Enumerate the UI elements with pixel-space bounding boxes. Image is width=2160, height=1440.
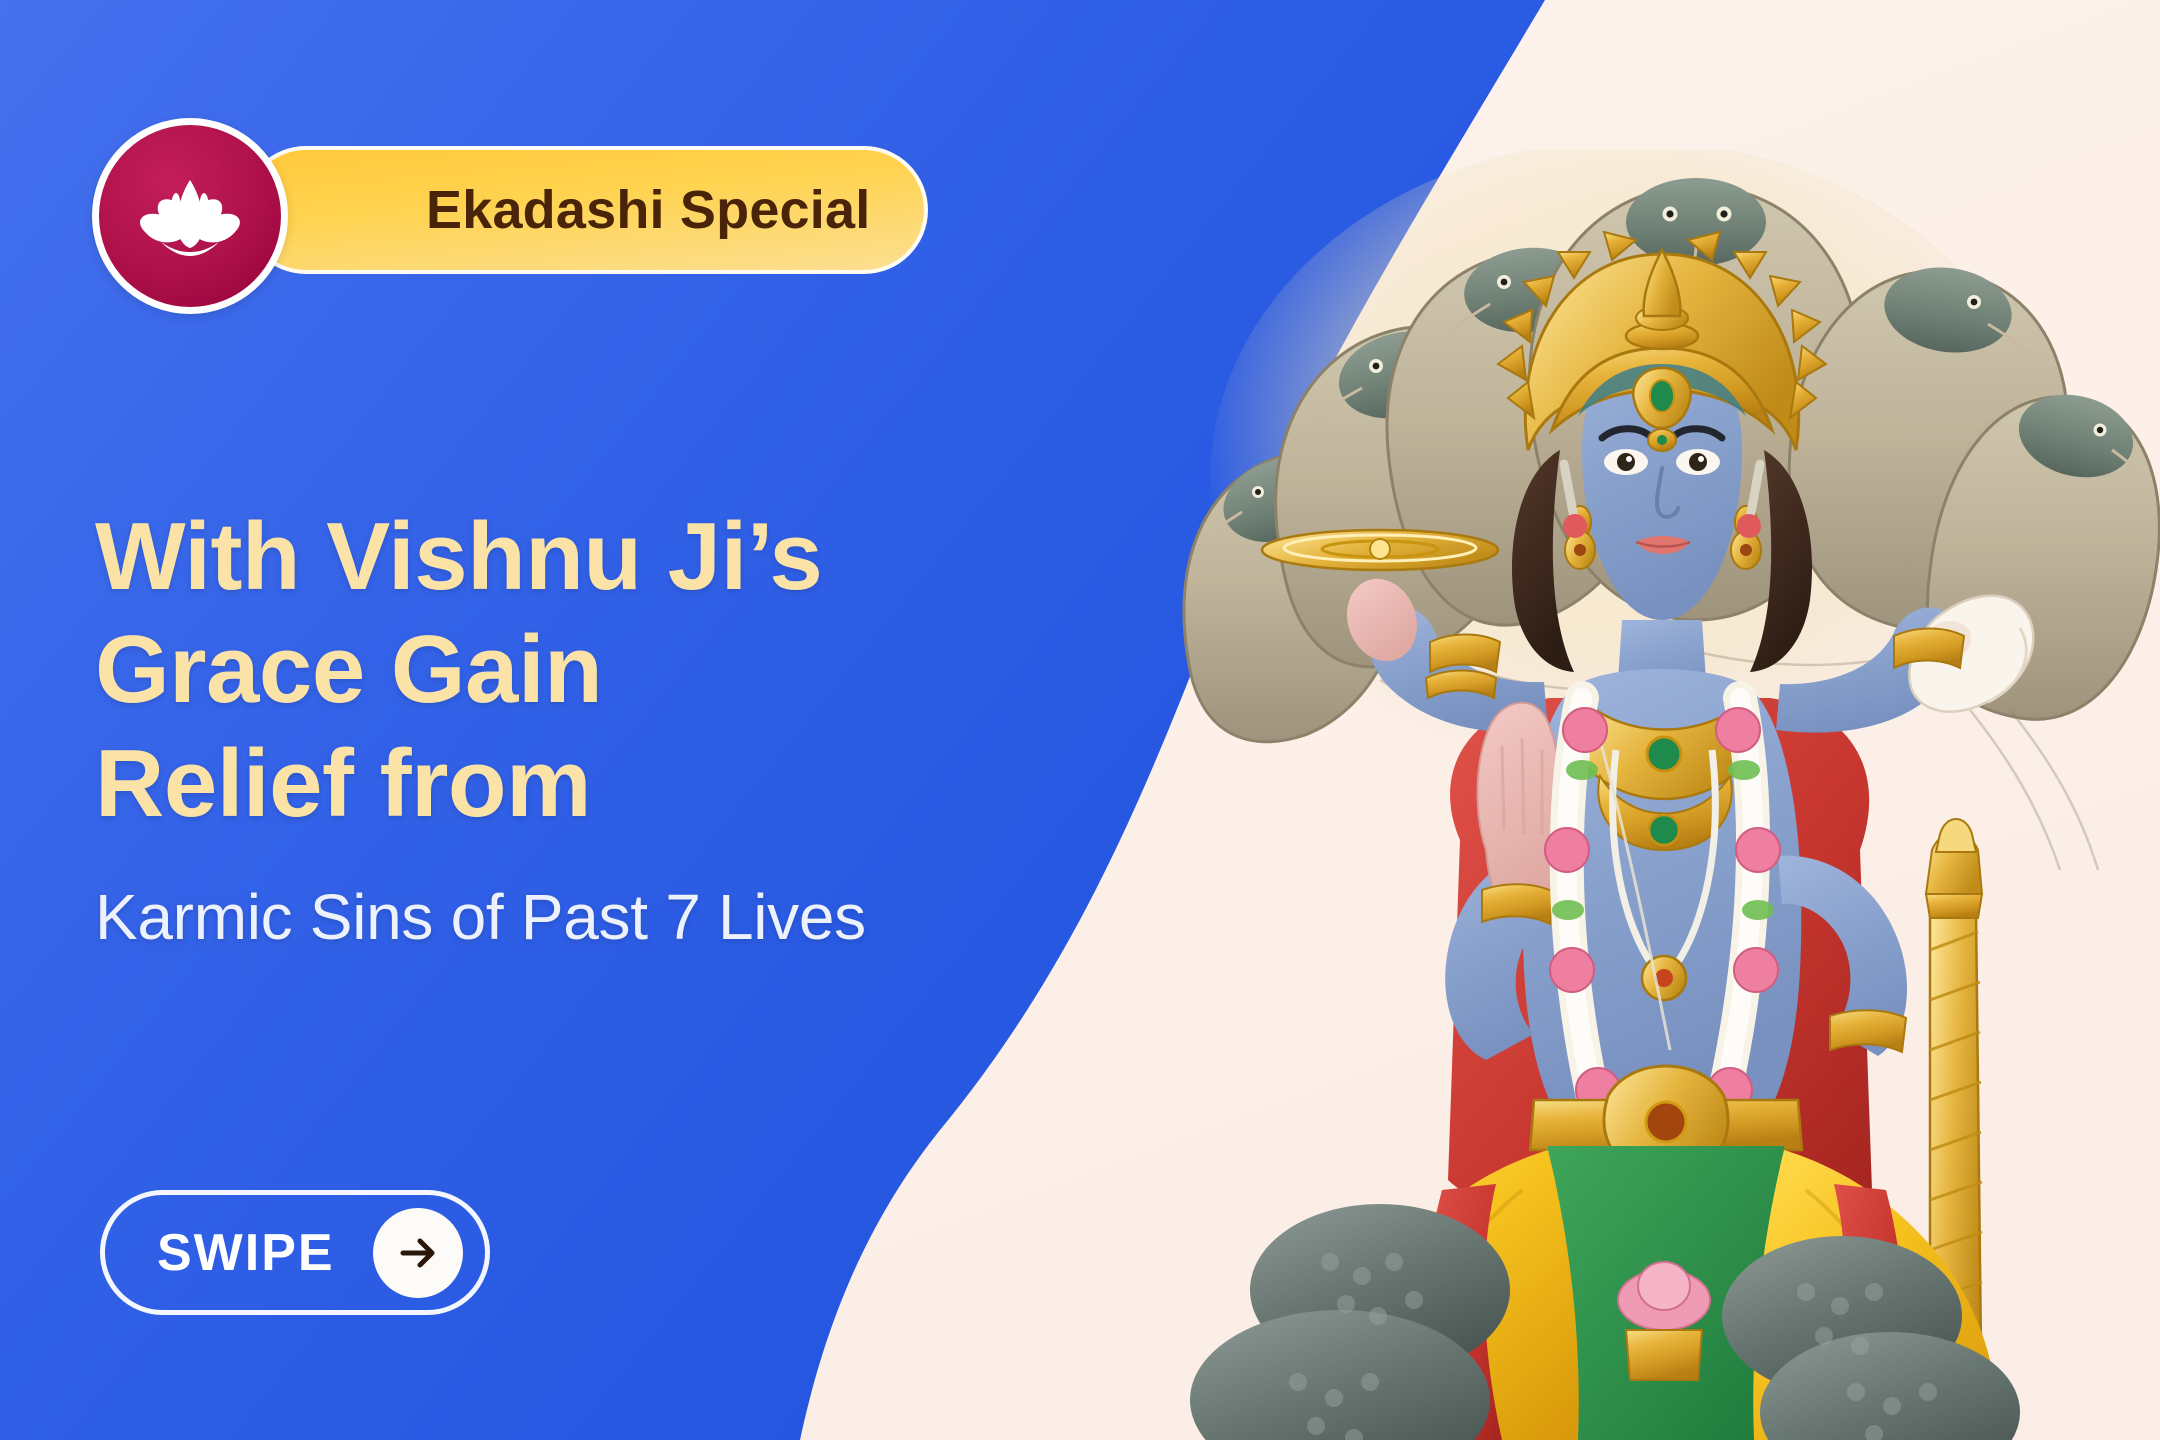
subheadline: Karmic Sins of Past 7 Lives bbox=[95, 880, 866, 954]
ekadashi-promo-banner: Ekadashi Special With Vishnu Ji’s Gr bbox=[0, 0, 2160, 1440]
abhaya-mudra-hand bbox=[1477, 703, 1562, 924]
arrow-right-icon bbox=[393, 1228, 443, 1278]
sudarshana-chakra bbox=[1262, 530, 1498, 570]
lotus-icon bbox=[129, 166, 251, 266]
swipe-button[interactable]: SWIPE bbox=[100, 1190, 490, 1315]
swipe-arrow-circle[interactable] bbox=[373, 1208, 463, 1298]
lotus-pendant bbox=[1618, 1262, 1710, 1380]
headline-block: With Vishnu Ji’s Grace Gain Relief from bbox=[95, 500, 1195, 840]
badge-icon-circle bbox=[92, 118, 288, 314]
headline-line-2: Grace Gain bbox=[95, 613, 1195, 726]
vishnu-illustration bbox=[1130, 150, 2160, 1440]
headline-line-1: With Vishnu Ji’s bbox=[95, 500, 1195, 613]
badge-pill: Ekadashi Special bbox=[242, 146, 928, 274]
swipe-label: SWIPE bbox=[157, 1223, 335, 1283]
headline-line-3: Relief from bbox=[95, 727, 1195, 840]
badge-label: Ekadashi Special bbox=[426, 179, 870, 241]
